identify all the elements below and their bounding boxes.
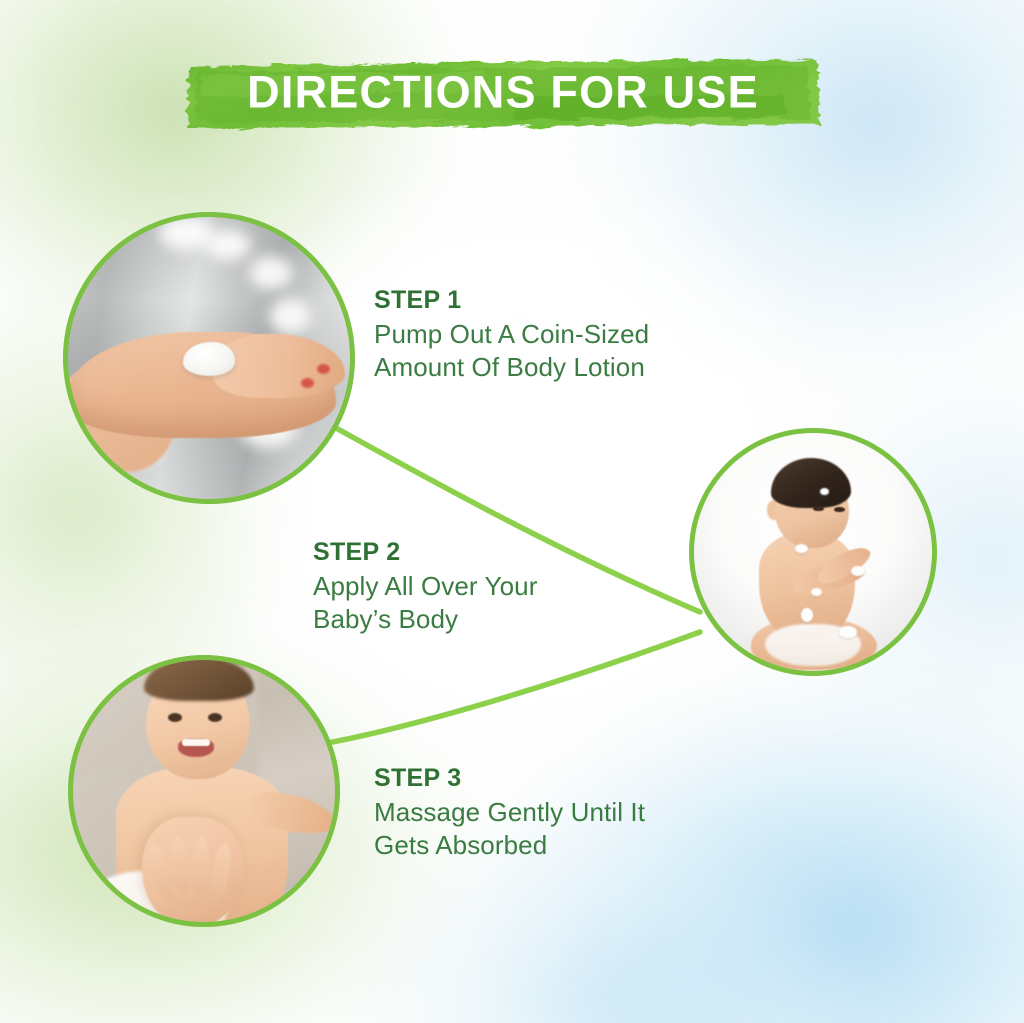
blurred-petal-icon [249, 256, 293, 290]
baby-being-massaged-photo [68, 655, 340, 927]
step-1-description: Pump Out A Coin-Sized Amount Of Body Lot… [374, 318, 774, 386]
lotion-smear [795, 544, 808, 553]
baby2-eye-shape [813, 506, 824, 511]
title-banner: DIRECTIONS FOR USE [183, 52, 823, 134]
lotion-smear [851, 566, 865, 576]
step-2-label: STEP 2 [313, 538, 713, 568]
directions-for-use-poster: DIRECTIONS FOR USE [0, 0, 1024, 1023]
fingernail-shape [301, 378, 314, 388]
baby2-eye-shape [834, 507, 845, 512]
step-1-label: STEP 1 [374, 286, 774, 316]
step-3-text-block: STEP 3 Massage Gently Until It Gets Abso… [374, 764, 774, 863]
fingernail-shape [317, 364, 330, 374]
lotion-smear [820, 488, 829, 495]
lotion-smear [839, 626, 857, 638]
page-title: DIRECTIONS FOR USE [183, 70, 823, 115]
baby3-eye-shape [168, 713, 182, 722]
step-2-description: Apply All Over Your Baby’s Body [313, 570, 713, 638]
step-3-label: STEP 3 [374, 764, 774, 794]
baby3-eye-shape [208, 713, 222, 722]
step-1-text-block: STEP 1 Pump Out A Coin-Sized Amount Of B… [374, 286, 774, 385]
blurred-petal-icon [205, 230, 251, 260]
step-2-text-block: STEP 2 Apply All Over Your Baby’s Body [313, 538, 713, 637]
step-3-description: Massage Gently Until It Gets Absorbed [374, 796, 774, 864]
hand-with-lotion-photo [63, 212, 355, 504]
baby3-teeth-shape [182, 739, 210, 746]
step-1-image-circle [63, 212, 355, 504]
lotion-smear [811, 588, 822, 596]
lotion-smear [801, 608, 813, 622]
step-2-image-circle [689, 428, 937, 676]
lotion-dollop [183, 342, 235, 376]
blurred-petal-icon [269, 298, 311, 334]
baby-applying-lotion-photo [689, 428, 937, 676]
step-3-image-circle [68, 655, 340, 927]
connector-step3-to-step2 [322, 632, 700, 744]
